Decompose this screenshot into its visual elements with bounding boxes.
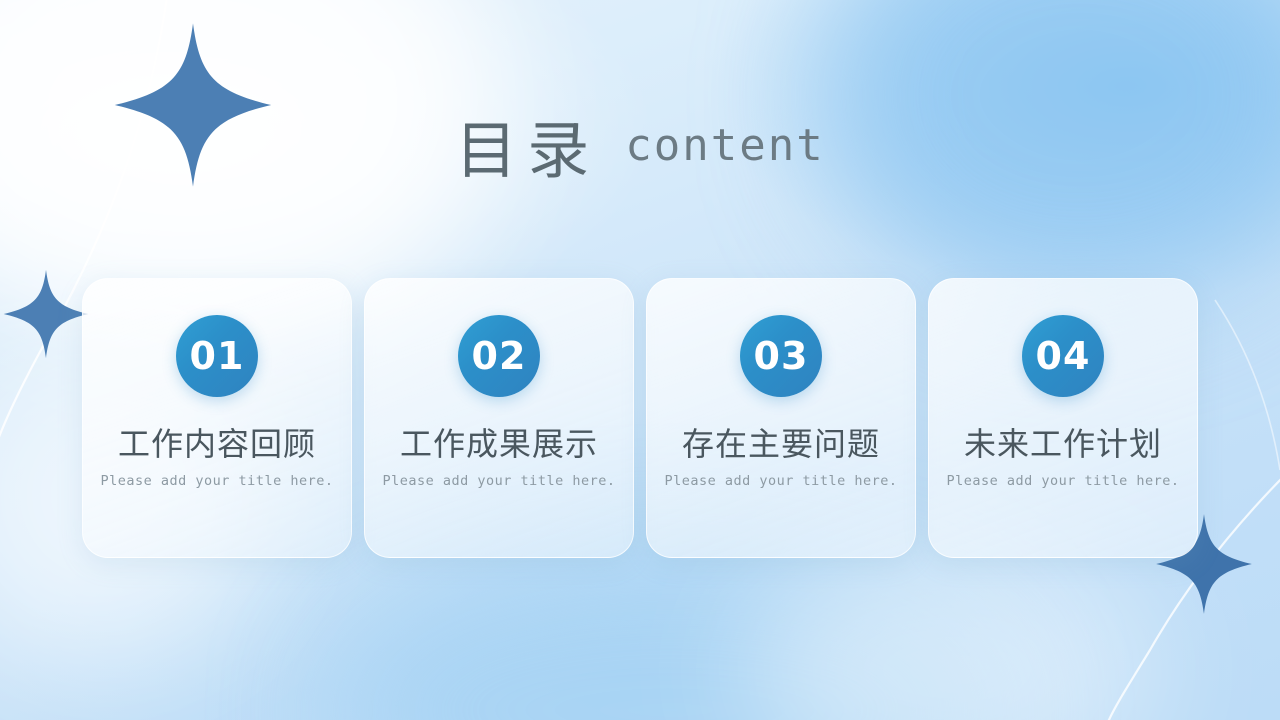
card-number-badge: 01 <box>176 315 258 397</box>
card-subtitle: Please add your title here. <box>947 473 1180 489</box>
slide-title-en: content <box>625 120 824 171</box>
content-card-02[interactable]: 02 工作成果展示 Please add your title here. <box>364 278 634 558</box>
card-subtitle: Please add your title here. <box>665 473 898 489</box>
content-card-04[interactable]: 04 未来工作计划 Please add your title here. <box>928 278 1198 558</box>
card-number-badge: 03 <box>740 315 822 397</box>
card-subtitle: Please add your title here. <box>383 473 616 489</box>
card-number-badge: 02 <box>458 315 540 397</box>
slide-title-cn: 目录 <box>455 114 599 187</box>
sparkle-star-icon-left <box>0 268 92 360</box>
card-title: 工作成果展示 <box>400 419 598 465</box>
card-title: 未来工作计划 <box>964 419 1162 465</box>
content-card-01[interactable]: 01 工作内容回顾 Please add your title here. <box>82 278 352 558</box>
card-title: 工作内容回顾 <box>118 419 316 465</box>
card-number-badge: 04 <box>1022 315 1104 397</box>
content-card-list: 01 工作内容回顾 Please add your title here. 02… <box>82 278 1198 558</box>
card-title: 存在主要问题 <box>682 419 880 465</box>
background-glow-bottom-center <box>330 560 1010 720</box>
content-card-03[interactable]: 03 存在主要问题 Please add your title here. <box>646 278 916 558</box>
background-glow-bottom-right <box>740 540 1160 720</box>
slide-canvas: 目录content 01 工作内容回顾 Please add your titl… <box>0 0 1280 720</box>
card-subtitle: Please add your title here. <box>101 473 334 489</box>
slide-title: 目录content <box>0 100 1280 190</box>
